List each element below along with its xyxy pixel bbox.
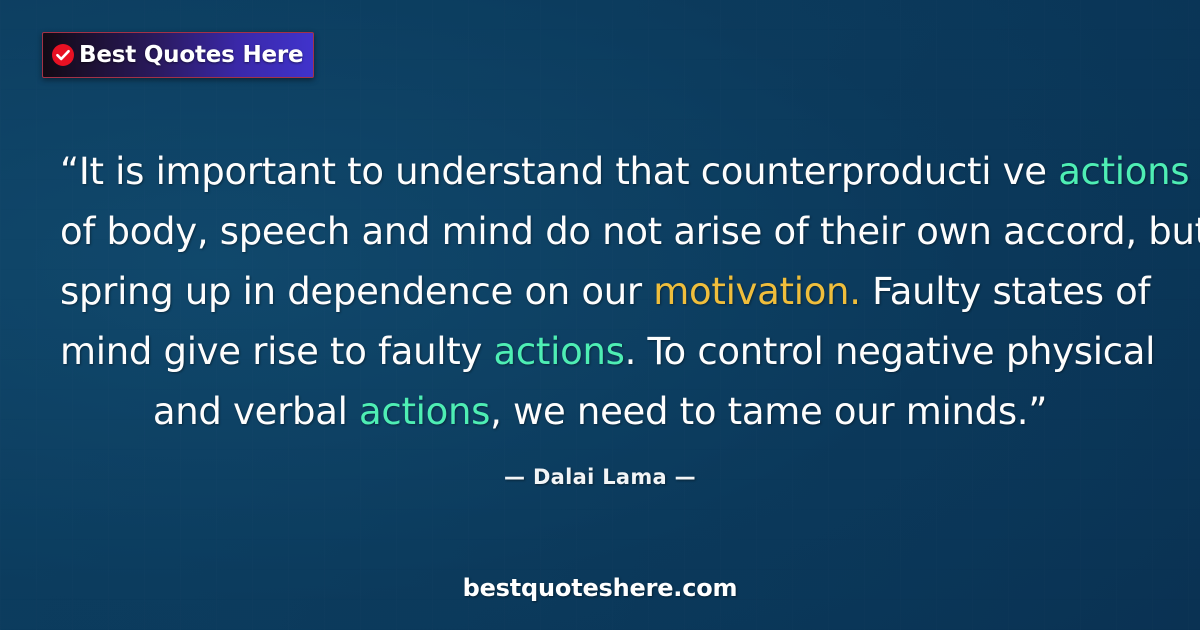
quote-attribution: — Dalai Lama — <box>0 462 1200 492</box>
quote-text-run: spring up in dependence on our <box>60 270 653 313</box>
quote-highlight-word: actions <box>494 330 625 373</box>
quote-text-run: “It is important to understand that coun… <box>60 150 1058 193</box>
quote-highlight-word: actions <box>1058 150 1189 193</box>
quote-line-2: of body, speech and mind do not arise of… <box>60 202 1140 262</box>
quote-text-run: mind give rise to faulty <box>60 330 494 373</box>
brand-badge[interactable]: Best Quotes Here <box>42 32 314 78</box>
quote-line-4: mind give rise to faulty actions. To con… <box>60 322 1140 382</box>
quote-card: Best Quotes Here “It is important to und… <box>0 0 1200 630</box>
quote-line-1: “It is important to understand that coun… <box>60 142 1140 202</box>
brand-badge-label: Best Quotes Here <box>79 44 303 67</box>
quote-text-run: Faulty states of <box>861 270 1151 313</box>
quote-text-run: and verbal <box>153 390 359 433</box>
quote-highlight-word: motivation. <box>653 270 860 313</box>
verified-check-icon <box>51 43 75 67</box>
quote-highlight-word: actions <box>359 390 490 433</box>
quote-text-run: . To control negative physical <box>625 330 1156 373</box>
quote-text-run: , we need to tame our minds.” <box>490 390 1047 433</box>
website-url[interactable]: bestquoteshere.com <box>0 572 1200 604</box>
quote-text-block: “It is important to understand that coun… <box>60 142 1140 442</box>
quote-line-3: spring up in dependence on our motivatio… <box>60 262 1140 322</box>
quote-line-5: and verbal actions, we need to tame our … <box>60 382 1140 442</box>
quote-text-run: of body, speech and mind do not arise of… <box>60 210 1200 253</box>
